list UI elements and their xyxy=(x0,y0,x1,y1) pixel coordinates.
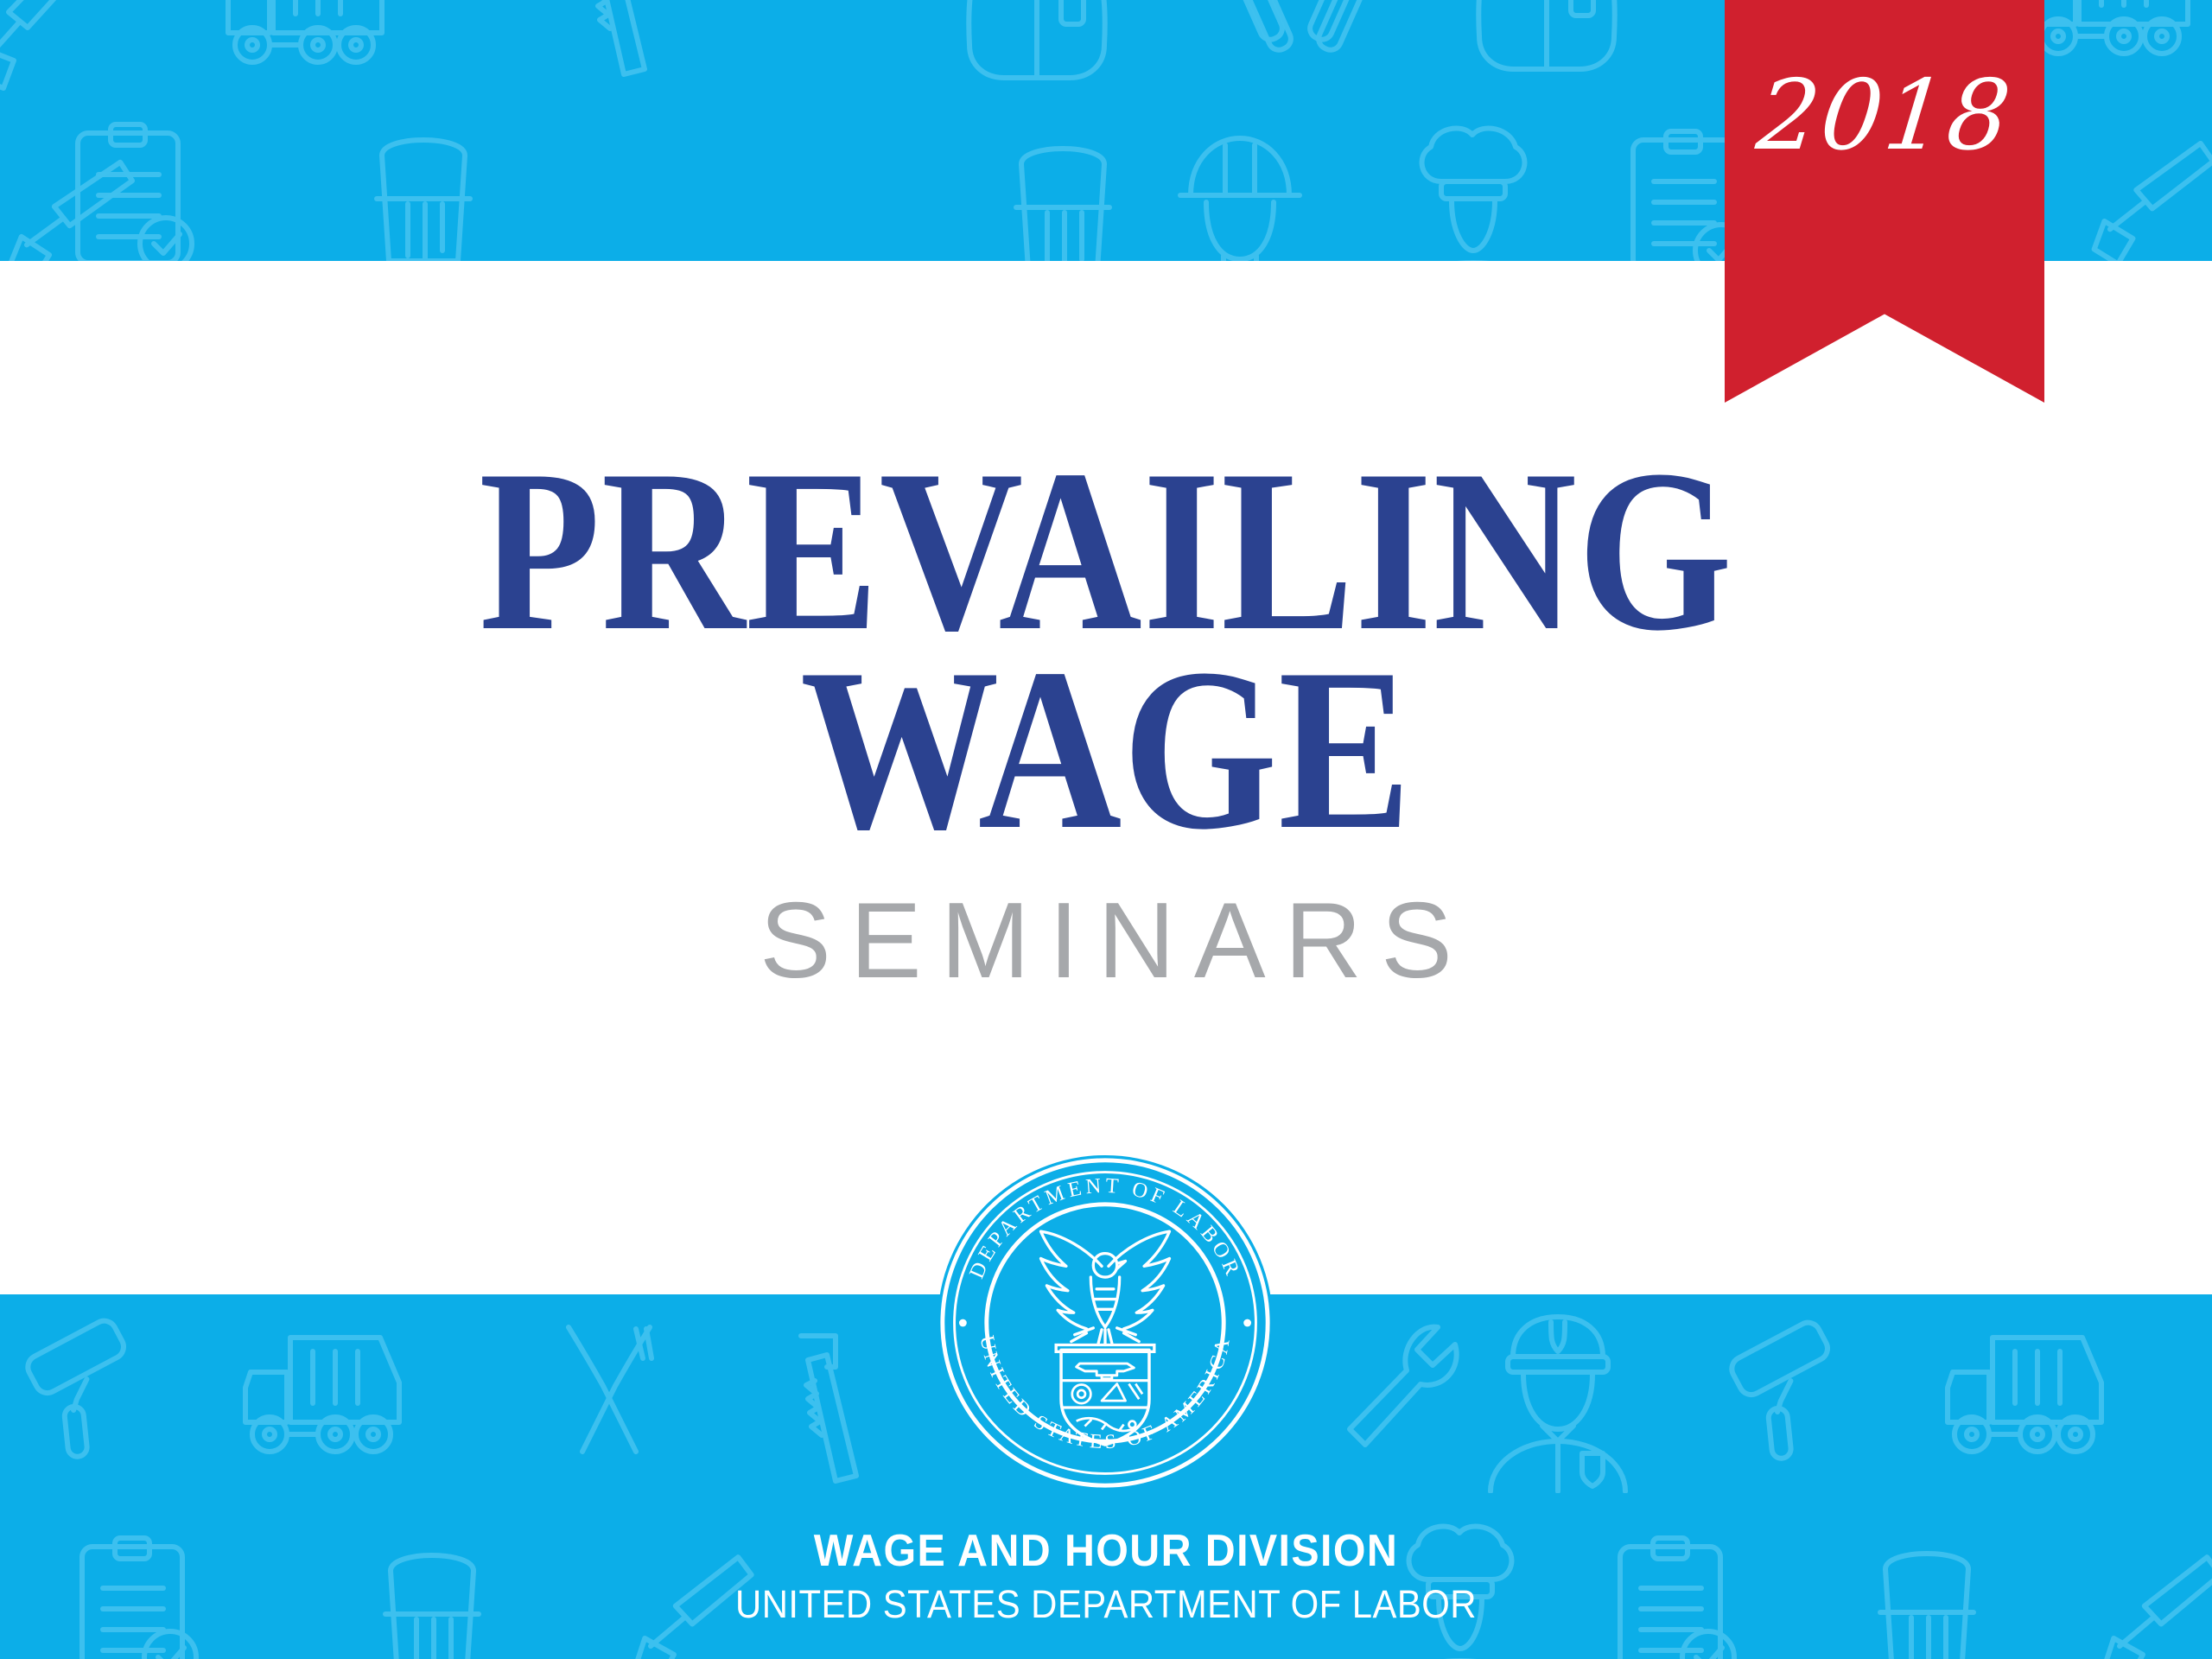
fork-and-knife-icon xyxy=(553,1320,665,1467)
year-ribbon: 2018 xyxy=(1725,0,2044,403)
shovel-icon xyxy=(0,0,86,95)
dump-truck-icon xyxy=(216,0,389,78)
prevailing-wage-seminars-slide: 2018 PREVAILING WAGE SEMINARS DEPARTMENT… xyxy=(0,0,2212,1659)
work-shirt-icon xyxy=(959,0,1115,86)
paint-bucket-icon xyxy=(363,130,484,261)
work-shirt-icon xyxy=(1469,0,1624,78)
hard-hat-worker-icon xyxy=(1166,128,1313,261)
agency-department-label: UNITED STATES DEPARTMENT OF LABOR xyxy=(78,1581,2135,1627)
agency-lockup: WAGE AND HOUR DIVISION UNITED STATES DEP… xyxy=(0,1526,2212,1627)
dump-truck-icon xyxy=(1935,1329,2108,1467)
page-subtitle: SEMINARS xyxy=(0,887,2212,995)
page-title-line-2: WAGE xyxy=(155,657,2057,842)
dump-truck-icon xyxy=(233,1329,406,1467)
agency-division-label: WAGE AND HOUR DIVISION xyxy=(78,1526,2135,1576)
ribbon-year-label: 2018 xyxy=(1719,67,2050,164)
title-block: PREVAILING WAGE SEMINARS xyxy=(0,458,2212,995)
shovel-icon xyxy=(3,137,144,261)
handsaw-icon xyxy=(782,1329,877,1484)
chef-icon xyxy=(1408,121,1555,261)
department-of-labor-seal-icon: DEPARTMENT OF LABOR UNITED STATES OF AME… xyxy=(936,1154,1274,1492)
handsaw-icon xyxy=(570,0,665,78)
ladder-icon xyxy=(1236,0,1357,50)
page-title-line-1: PREVAILING xyxy=(155,458,2057,643)
paint-roller-icon xyxy=(17,1313,162,1472)
security-officer-icon xyxy=(1482,1312,1637,1493)
paint-bucket-icon xyxy=(1002,138,1123,261)
paint-roller-icon xyxy=(1721,1314,1866,1474)
shovel-icon xyxy=(2088,121,2212,261)
wrench-icon xyxy=(1331,1320,1469,1467)
